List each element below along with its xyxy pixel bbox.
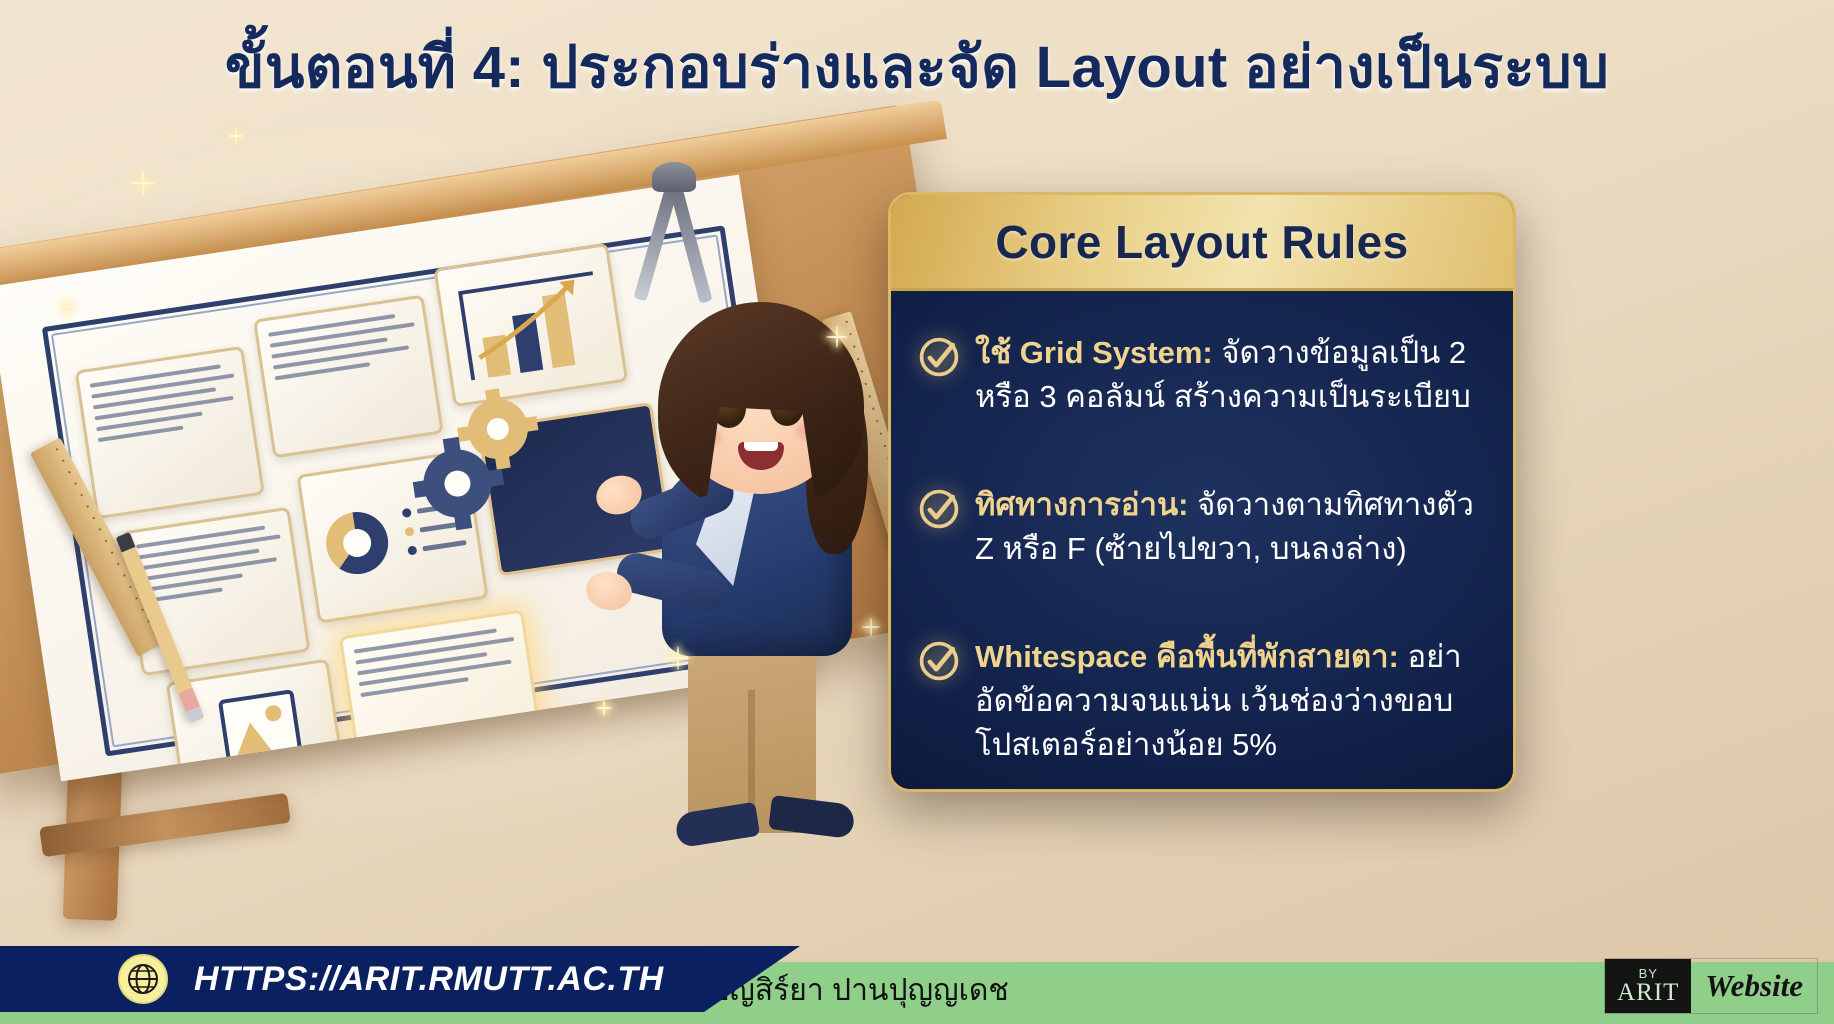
brand-website-label: Website (1705, 968, 1803, 1004)
puzzle-piece-highlighted (339, 609, 544, 775)
check-circle-icon (917, 639, 961, 683)
placeholder-lines-icon (268, 311, 421, 387)
donut-chart-icon (322, 508, 392, 578)
rule-item: ทิศทางการอ่าน: จัดวางตามทิศทางตัว Z หรือ… (917, 483, 1483, 571)
rule-item: Whitespace คือพื้นที่พักสายตา: อย่าอัดข้… (917, 635, 1483, 767)
page-title-text: ขั้นตอนที่ 4: ประกอบร่างและจัด Layout อย… (0, 38, 1834, 99)
rule-lead: ใช้ Grid System: (975, 335, 1213, 370)
rule-lead: ทิศทางการอ่าน: (975, 487, 1188, 522)
brand-logo-word: Website (1691, 959, 1817, 1013)
check-circle-icon (917, 335, 961, 379)
rules-card-title: Core Layout Rules (995, 215, 1408, 269)
puzzle-piece-text (75, 346, 265, 519)
brand-logo-mark: BY ARIT (1605, 959, 1691, 1013)
core-layout-rules-card: Core Layout Rules ใช้ Grid System: จัดวา… (888, 192, 1516, 792)
slide-root: ขั้นตอนที่ 4: ประกอบร่างและจัด Layout อย… (0, 0, 1834, 1024)
rule-text: ทิศทางการอ่าน: จัดวางตามทิศทางตัว Z หรือ… (975, 483, 1483, 571)
rule-lead: Whitespace คือพื้นที่พักสายตา: (975, 639, 1399, 674)
placeholder-lines-icon (90, 363, 242, 450)
rules-card-header: Core Layout Rules (891, 195, 1513, 291)
brand-logo: BY ARIT Website (1604, 958, 1818, 1014)
character-shoe (674, 802, 760, 848)
footer-url-band: HTTPS://ARIT.RMUTT.AC.TH (0, 946, 800, 1012)
globe-icon (118, 954, 168, 1004)
footer-bar: เบญสิร์ยา ปานปุญญเดช HTTPS://ARIT.RMUTT.… (0, 932, 1834, 1024)
brand-arit-label: ARIT (1617, 980, 1679, 1005)
check-circle-icon (917, 487, 961, 531)
placeholder-lines-icon (136, 523, 288, 610)
gears-icon (400, 377, 571, 548)
image-placeholder-icon (218, 689, 302, 762)
rule-item: ใช้ Grid System: จัดวางข้อมูลเป็น 2 หรือ… (917, 331, 1483, 419)
placeholder-lines-icon (354, 626, 520, 704)
rule-text: Whitespace คือพื้นที่พักสายตา: อย่าอัดข้… (975, 635, 1483, 767)
compass-icon (652, 162, 696, 192)
rule-text: ใช้ Grid System: จัดวางข้อมูลเป็น 2 หรือ… (975, 331, 1483, 419)
page-title: ขั้นตอนที่ 4: ประกอบร่างและจัด Layout อย… (0, 38, 1834, 99)
site-url-text[interactable]: HTTPS://ARIT.RMUTT.AC.TH (194, 960, 664, 999)
presenter-character (620, 310, 920, 900)
rules-card-body: ใช้ Grid System: จัดวางข้อมูลเป็น 2 หรือ… (891, 291, 1513, 789)
